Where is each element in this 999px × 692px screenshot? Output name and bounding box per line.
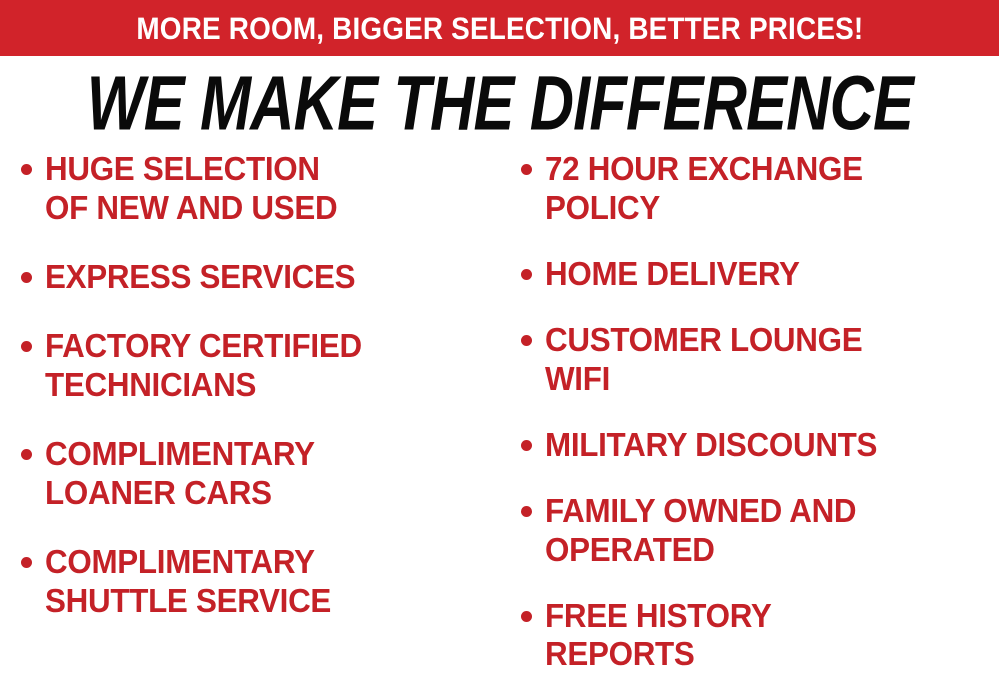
promo-banner: MORE ROOM, BIGGER SELECTION, BETTER PRIC…	[0, 0, 999, 56]
list-item-label: 72 HOUR EXCHANGE POLICY	[545, 150, 863, 228]
list-item: HUGE SELECTION OF NEW AND USED	[8, 150, 500, 228]
list-item-label: FACTORY CERTIFIED TECHNICIANS	[45, 327, 362, 405]
list-item: COMPLIMENTARY LOANER CARS	[8, 435, 500, 513]
bullet-dot-icon	[21, 557, 32, 568]
list-item: 72 HOUR EXCHANGE POLICY	[508, 150, 999, 228]
list-item-label: EXPRESS SERVICES	[45, 258, 355, 297]
bullet-dot-icon	[21, 449, 32, 460]
bullet-dot-icon	[21, 272, 32, 283]
bullet-dot-icon	[521, 440, 532, 451]
advertisement-banner: MORE ROOM, BIGGER SELECTION, BETTER PRIC…	[0, 0, 999, 692]
list-item: FREE HISTORY REPORTS	[508, 597, 999, 675]
list-item: FAMILY OWNED AND OPERATED	[508, 492, 999, 570]
list-item-label: HOME DELIVERY	[545, 255, 800, 294]
benefits-right-column: 72 HOUR EXCHANGE POLICY HOME DELIVERY CU…	[508, 150, 999, 692]
list-item-label: MILITARY DISCOUNTS	[545, 426, 877, 465]
list-item-label: CUSTOMER LOUNGE WIFI	[545, 321, 862, 399]
list-item: EXPRESS SERVICES	[8, 258, 500, 297]
page-title: WE MAKE THE DIFFERENCE	[86, 64, 912, 141]
bullet-dot-icon	[521, 335, 532, 346]
list-item-label: FREE HISTORY REPORTS	[545, 597, 772, 675]
benefits-columns: HUGE SELECTION OF NEW AND USED EXPRESS S…	[0, 150, 999, 692]
headline-container: WE MAKE THE DIFFERENCE	[0, 64, 999, 142]
list-item-label: COMPLIMENTARY LOANER CARS	[45, 435, 315, 513]
bullet-dot-icon	[521, 164, 532, 175]
benefits-left-column: HUGE SELECTION OF NEW AND USED EXPRESS S…	[8, 150, 500, 692]
bullet-dot-icon	[521, 506, 532, 517]
bullet-dot-icon	[21, 341, 32, 352]
promo-banner-text: MORE ROOM, BIGGER SELECTION, BETTER PRIC…	[136, 13, 863, 44]
list-item-label: COMPLIMENTARY SHUTTLE SERVICE	[45, 543, 331, 621]
list-item: FACTORY CERTIFIED TECHNICIANS	[8, 327, 500, 405]
list-item: MILITARY DISCOUNTS	[508, 426, 999, 465]
bullet-dot-icon	[21, 164, 32, 175]
list-item: CUSTOMER LOUNGE WIFI	[508, 321, 999, 399]
list-item: COMPLIMENTARY SHUTTLE SERVICE	[8, 543, 500, 621]
list-item-label: HUGE SELECTION OF NEW AND USED	[45, 150, 337, 228]
bullet-dot-icon	[521, 611, 532, 622]
list-item: HOME DELIVERY	[508, 255, 999, 294]
list-item-label: FAMILY OWNED AND OPERATED	[545, 492, 856, 570]
bullet-dot-icon	[521, 269, 532, 280]
